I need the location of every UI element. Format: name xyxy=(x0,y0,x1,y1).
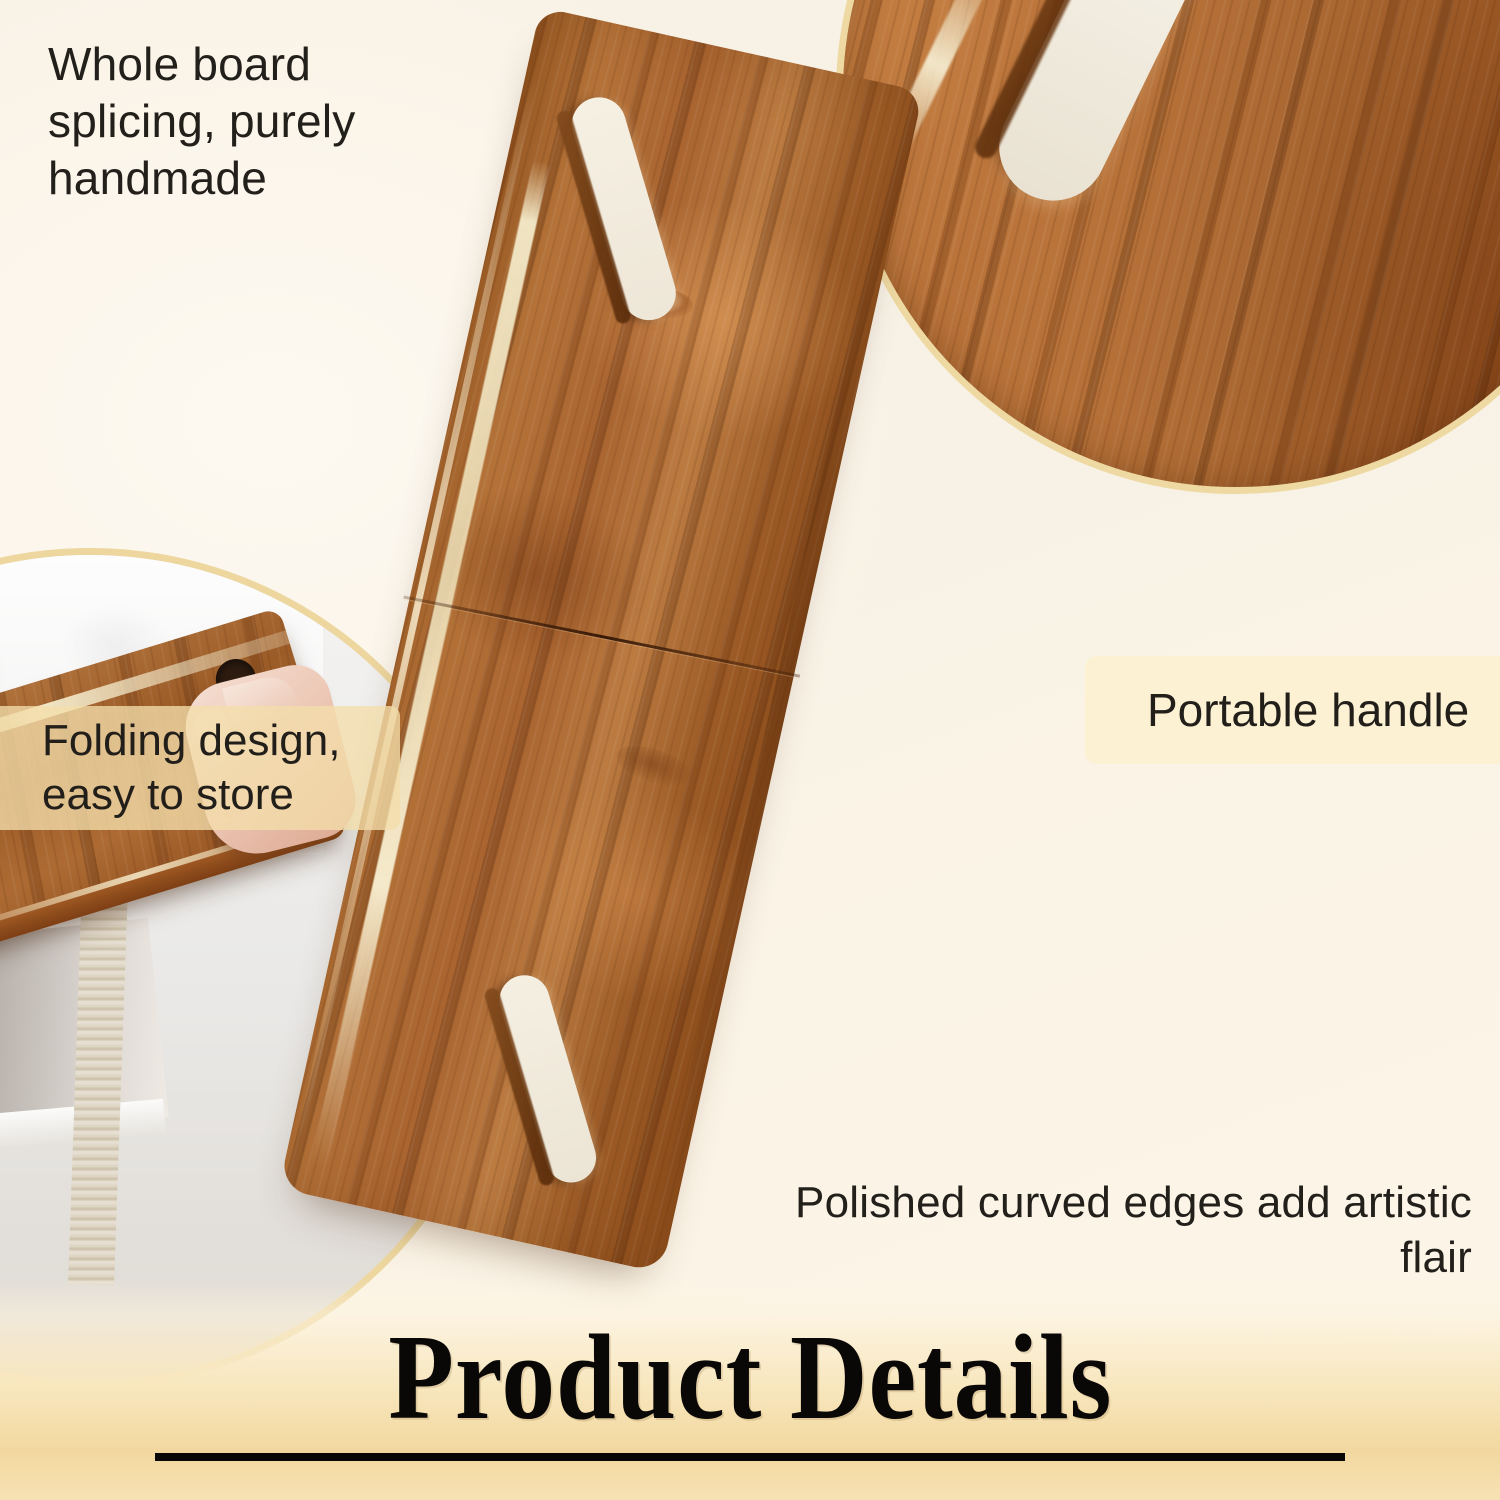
callout-folding-design: Folding design, easy to store xyxy=(0,706,400,830)
title-underline xyxy=(155,1453,1345,1461)
product-detail-image: LOEWE Whole board splicing, purely handm… xyxy=(0,0,1500,1500)
photo-backdrop: LOEWE xyxy=(0,555,503,1381)
wood-knot xyxy=(628,285,695,322)
page-title: Product Details xyxy=(388,1317,1112,1439)
inset-handle-closeup xyxy=(836,0,1500,494)
callout-polished-edges: Polished curved edges add artistic flair xyxy=(772,1176,1472,1285)
callout-portable-handle: Portable handle xyxy=(1085,656,1500,764)
bottom-handle-slot xyxy=(493,969,602,1188)
wood-knot-secondary xyxy=(612,738,699,796)
top-handle-slot xyxy=(565,91,682,327)
callout-whole-board: Whole board splicing, purely handmade xyxy=(48,36,448,207)
inset-storage-photo: LOEWE xyxy=(0,548,510,1388)
footer-title-band: Product Details xyxy=(0,1278,1500,1500)
